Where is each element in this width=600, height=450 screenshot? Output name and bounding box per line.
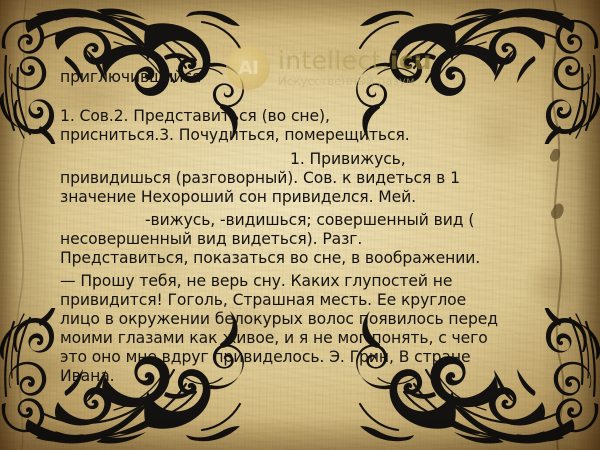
parchment-page: AI intellect.icu Искусственный разум при… [0, 0, 600, 450]
parchment-vignette [0, 0, 600, 450]
